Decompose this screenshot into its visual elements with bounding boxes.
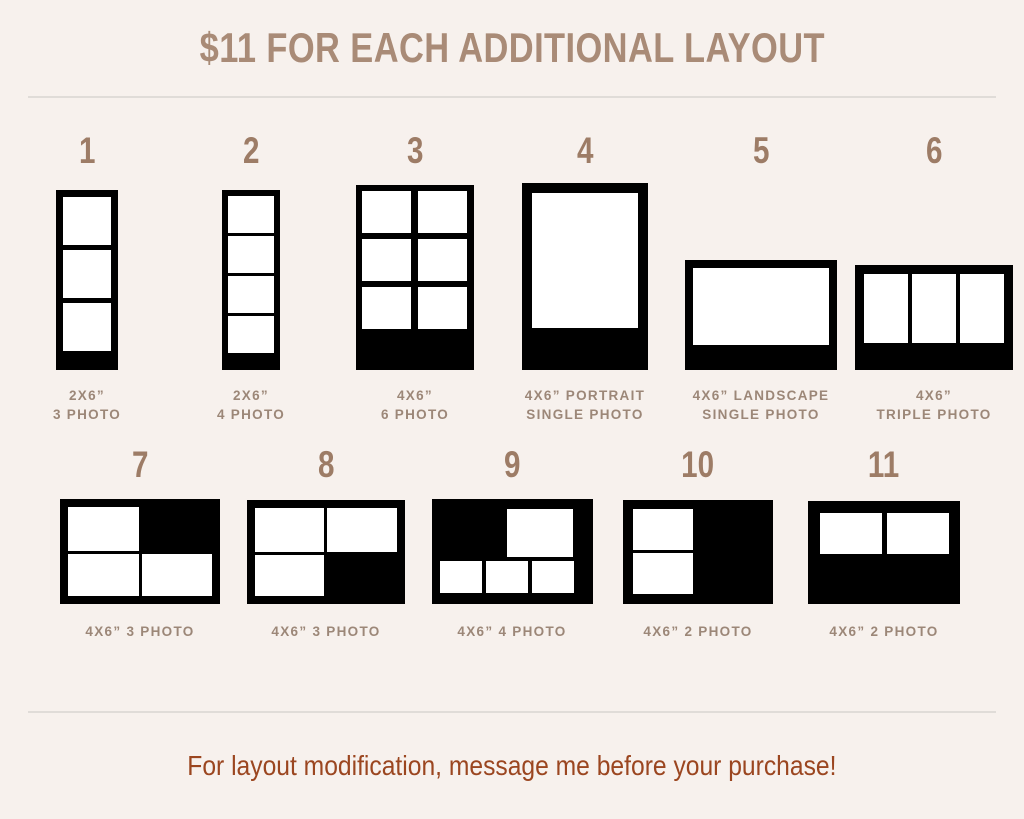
layout-preview-4 [522,178,648,370]
layout-card-5[interactable]: 5 4X6” LANDSCAPE SINGLE PHOTO [673,132,849,424]
photo-slot [693,268,829,345]
photo-slot [864,274,908,343]
photo-slot [507,509,573,557]
layout-frame-8 [247,500,405,604]
photo-slot [228,236,274,273]
photo-slot [887,513,949,554]
photo-slot [63,303,111,351]
photo-slot [68,507,139,551]
layout-number-5: 5 [753,132,769,169]
layout-label-10: 4X6” 2 PHOTO [643,622,752,641]
layout-preview-9 [432,492,593,604]
layout-number-11: 11 [868,446,899,483]
layout-number-4: 4 [577,132,593,169]
layout-frame-3 [356,185,474,370]
layout-frame-5 [685,260,837,370]
layout-card-10[interactable]: 10 4X6” 2 PHOTO [605,446,791,641]
photo-slot [418,191,467,233]
layout-card-7[interactable]: 7 4X6” 3 PHOTO [47,446,233,641]
page-title: $11 FOR EACH ADDITIONAL LAYOUT [199,24,824,72]
layout-preview-3 [356,178,474,370]
layout-card-2[interactable]: 2 2X6” 4 PHOTO [169,132,333,424]
layout-frame-2 [222,190,280,370]
layout-frame-9 [432,499,593,604]
layout-frame-7 [60,499,220,604]
photo-slot [912,274,956,343]
layout-card-11[interactable]: 11 4X6” 2 PHOTO [791,446,977,641]
layout-number-7: 7 [132,446,148,483]
layout-preview-7 [60,492,220,604]
layout-card-1[interactable]: 1 2X6” 3 PHOTO [5,132,169,424]
photo-slot [362,287,411,329]
photo-slot [960,274,1004,343]
photo-slot [362,239,411,281]
photo-slot [68,554,139,596]
layout-card-3[interactable]: 3 4X6” 6 PHOTO [333,132,497,424]
layout-label-5: 4X6” LANDSCAPE SINGLE PHOTO [693,386,830,424]
layout-label-8: 4X6” 3 PHOTO [271,622,380,641]
layout-number-10: 10 [682,446,715,483]
layout-number-3: 3 [407,132,423,169]
photo-slot [362,191,411,233]
layout-label-11: 4X6” 2 PHOTO [829,622,938,641]
photo-slot [532,193,638,328]
layout-preview-10 [623,492,773,604]
layout-number-6: 6 [926,132,942,169]
photo-slot [327,508,397,552]
layout-preview-2 [222,178,280,370]
layout-card-8[interactable]: 8 4X6” 3 PHOTO [233,446,419,641]
layout-number-1: 1 [79,132,95,169]
layout-row-2: 7 4X6” 3 PHOTO 8 4X6” 3 PHOTO 9 [0,446,1024,641]
layout-card-9[interactable]: 9 4X6” 4 PHOTO [419,446,605,641]
photo-slot [255,555,324,596]
page-header: $11 FOR EACH ADDITIONAL LAYOUT [0,0,1024,96]
layout-number-8: 8 [318,446,334,483]
layout-label-1: 2X6” 3 PHOTO [53,386,121,424]
photo-slot [532,561,574,593]
photo-slot [633,553,693,594]
layout-number-9: 9 [504,446,520,483]
layout-card-4[interactable]: 4 4X6” PORTRAIT SINGLE PHOTO [497,132,673,424]
layout-row-1: 1 2X6” 3 PHOTO 2 2X6” 4 PHOTO 3 [0,132,1024,424]
photo-slot [418,239,467,281]
photo-slot [63,250,111,298]
photo-slot [228,316,274,353]
photo-slot [633,509,693,550]
layout-preview-6 [855,178,1013,370]
photo-slot [142,554,212,596]
layout-label-4: 4X6” PORTRAIT SINGLE PHOTO [525,386,645,424]
layout-frame-4 [522,183,648,370]
page-footer: For layout modification, message me befo… [0,712,1024,819]
layout-label-2: 2X6” 4 PHOTO [217,386,285,424]
layout-number-2: 2 [243,132,259,169]
photo-slot [486,561,528,593]
layout-label-6: 4X6” TRIPLE PHOTO [876,386,991,424]
photo-slot [418,287,467,329]
layout-label-3: 4X6” 6 PHOTO [381,386,449,424]
layout-frame-10 [623,500,773,604]
layout-label-9: 4X6” 4 PHOTO [457,622,566,641]
layout-card-6[interactable]: 6 4X6” TRIPLE PHOTO [849,132,1019,424]
photo-slot [63,197,111,245]
layout-frame-11 [808,501,960,604]
layout-preview-11 [808,492,960,604]
layout-preview-5 [685,178,837,370]
layout-preview-8 [247,492,405,604]
layout-label-7: 4X6” 3 PHOTO [85,622,194,641]
footer-note: For layout modification, message me befo… [187,750,836,782]
photo-slot [228,196,274,233]
layout-frame-1 [56,190,118,370]
photo-slot [228,276,274,313]
photo-slot [255,508,324,552]
layout-frame-6 [855,265,1013,370]
divider-top [28,96,996,98]
photo-slot [820,513,882,554]
layout-preview-1 [56,178,118,370]
photo-slot [440,561,482,593]
